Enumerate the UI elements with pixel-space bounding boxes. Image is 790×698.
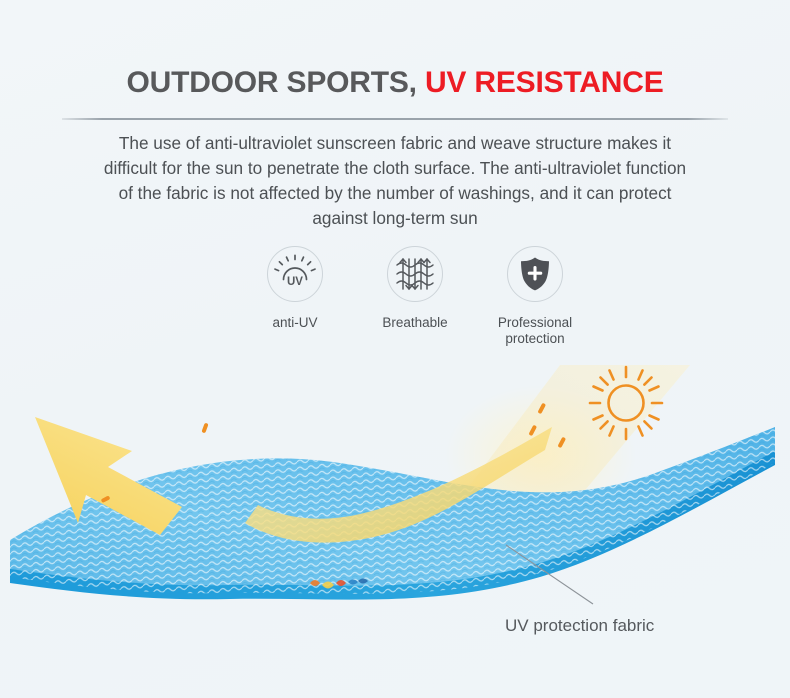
feature-professional-protection: Professional protection	[475, 246, 595, 347]
intro-paragraph: The use of anti-ultraviolet sunscreen fa…	[95, 131, 695, 231]
shield-plus-icon	[518, 256, 552, 292]
anti-uv-icon: UV	[273, 252, 317, 296]
breathable-waves-icon	[394, 253, 436, 295]
feature-list: UV anti-UV	[235, 246, 595, 347]
feature-anti-uv: UV anti-UV	[235, 246, 355, 347]
header-divider	[62, 118, 728, 120]
page-title: OUTDOOR SPORTS, UV RESISTANCE	[0, 66, 790, 100]
page-title-red: UV RESISTANCE	[425, 66, 664, 99]
feature-icon-circle: UV	[267, 246, 323, 302]
feature-breathable: Breathable	[355, 246, 475, 347]
feature-icon-circle	[387, 246, 443, 302]
anti-uv-icon-text: UV	[287, 276, 303, 288]
feature-label-breathable: Breathable	[382, 315, 447, 331]
uv-resistance-infographic: OUTDOOR SPORTS, UV RESISTANCE The use of…	[0, 0, 790, 698]
feature-label-professional-protection: Professional protection	[480, 315, 590, 347]
feature-label-anti-uv: anti-UV	[272, 315, 317, 331]
feature-icon-circle	[507, 246, 563, 302]
fabric-illustration	[0, 355, 790, 655]
page-title-grey: OUTDOOR SPORTS,	[126, 66, 425, 99]
fabric-illustration-svg	[0, 355, 790, 655]
fabric-caption: UV protection fabric	[505, 616, 654, 636]
